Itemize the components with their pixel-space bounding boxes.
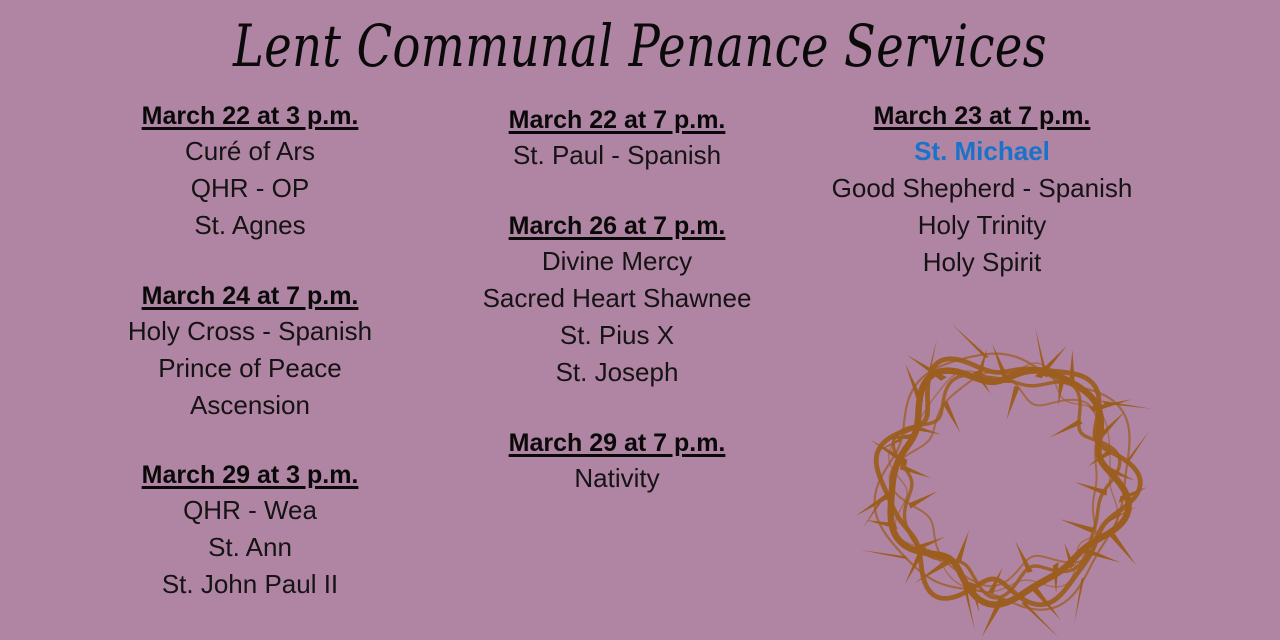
- schedule-block: March 23 at 7 p.m.St. MichaelGood Shephe…: [797, 100, 1167, 281]
- schedule-block: March 24 at 7 p.m.Holy Cross - SpanishPr…: [80, 280, 420, 424]
- parish-name: Curé of Ars: [80, 133, 420, 170]
- schedule-block: March 26 at 7 p.m.Divine MercySacred Hea…: [447, 210, 787, 391]
- schedule-date-heading: March 22 at 3 p.m.: [80, 100, 420, 133]
- schedule-block: March 29 at 3 p.m.QHR - WeaSt. AnnSt. Jo…: [80, 459, 420, 603]
- parish-name: St. Agnes: [80, 207, 420, 244]
- schedule-date-heading: March 29 at 3 p.m.: [80, 459, 420, 492]
- parish-name: St. John Paul II: [80, 566, 420, 603]
- parish-name: Sacred Heart Shawnee: [447, 280, 787, 317]
- crown-of-thorns-icon: [845, 320, 1165, 640]
- parish-name: QHR - OP: [80, 170, 420, 207]
- parish-name: St. Paul - Spanish: [447, 137, 787, 174]
- schedule-column-3: March 23 at 7 p.m.St. MichaelGood Shephe…: [797, 100, 1167, 281]
- parish-name: QHR - Wea: [80, 492, 420, 529]
- parish-name: Ascension: [80, 387, 420, 424]
- schedule-block: March 22 at 3 p.m.Curé of ArsQHR - OPSt.…: [80, 100, 420, 244]
- parish-name: St. Pius X: [447, 317, 787, 354]
- parish-name: St. Joseph: [447, 354, 787, 391]
- parish-name-highlighted: St. Michael: [797, 133, 1167, 170]
- schedule-date-heading: March 26 at 7 p.m.: [447, 210, 787, 243]
- parish-name: Holy Cross - Spanish: [80, 313, 420, 350]
- parish-name: Nativity: [447, 460, 787, 497]
- schedule-date-heading: March 24 at 7 p.m.: [80, 280, 420, 313]
- parish-name: Divine Mercy: [447, 243, 787, 280]
- parish-name: Holy Trinity: [797, 207, 1167, 244]
- parish-name: Good Shepherd - Spanish: [797, 170, 1167, 207]
- crown-of-thorns-graphic: [845, 320, 1165, 640]
- parish-name: St. Ann: [80, 529, 420, 566]
- schedule-block: March 29 at 7 p.m.Nativity: [447, 427, 787, 497]
- schedule-date-heading: March 23 at 7 p.m.: [797, 100, 1167, 133]
- schedule-date-heading: March 22 at 7 p.m.: [447, 104, 787, 137]
- parish-name: Holy Spirit: [797, 244, 1167, 281]
- schedule-column-1: March 22 at 3 p.m.Curé of ArsQHR - OPSt.…: [80, 100, 420, 603]
- parish-name: Prince of Peace: [80, 350, 420, 387]
- page-title: Lent Communal Penance Services: [128, 16, 1152, 77]
- schedule-column-2: March 22 at 7 p.m.St. Paul - SpanishMarc…: [447, 104, 787, 496]
- schedule-date-heading: March 29 at 7 p.m.: [447, 427, 787, 460]
- penance-services-poster: Lent Communal Penance Services March 22 …: [0, 0, 1280, 640]
- schedule-block: March 22 at 7 p.m.St. Paul - Spanish: [447, 104, 787, 174]
